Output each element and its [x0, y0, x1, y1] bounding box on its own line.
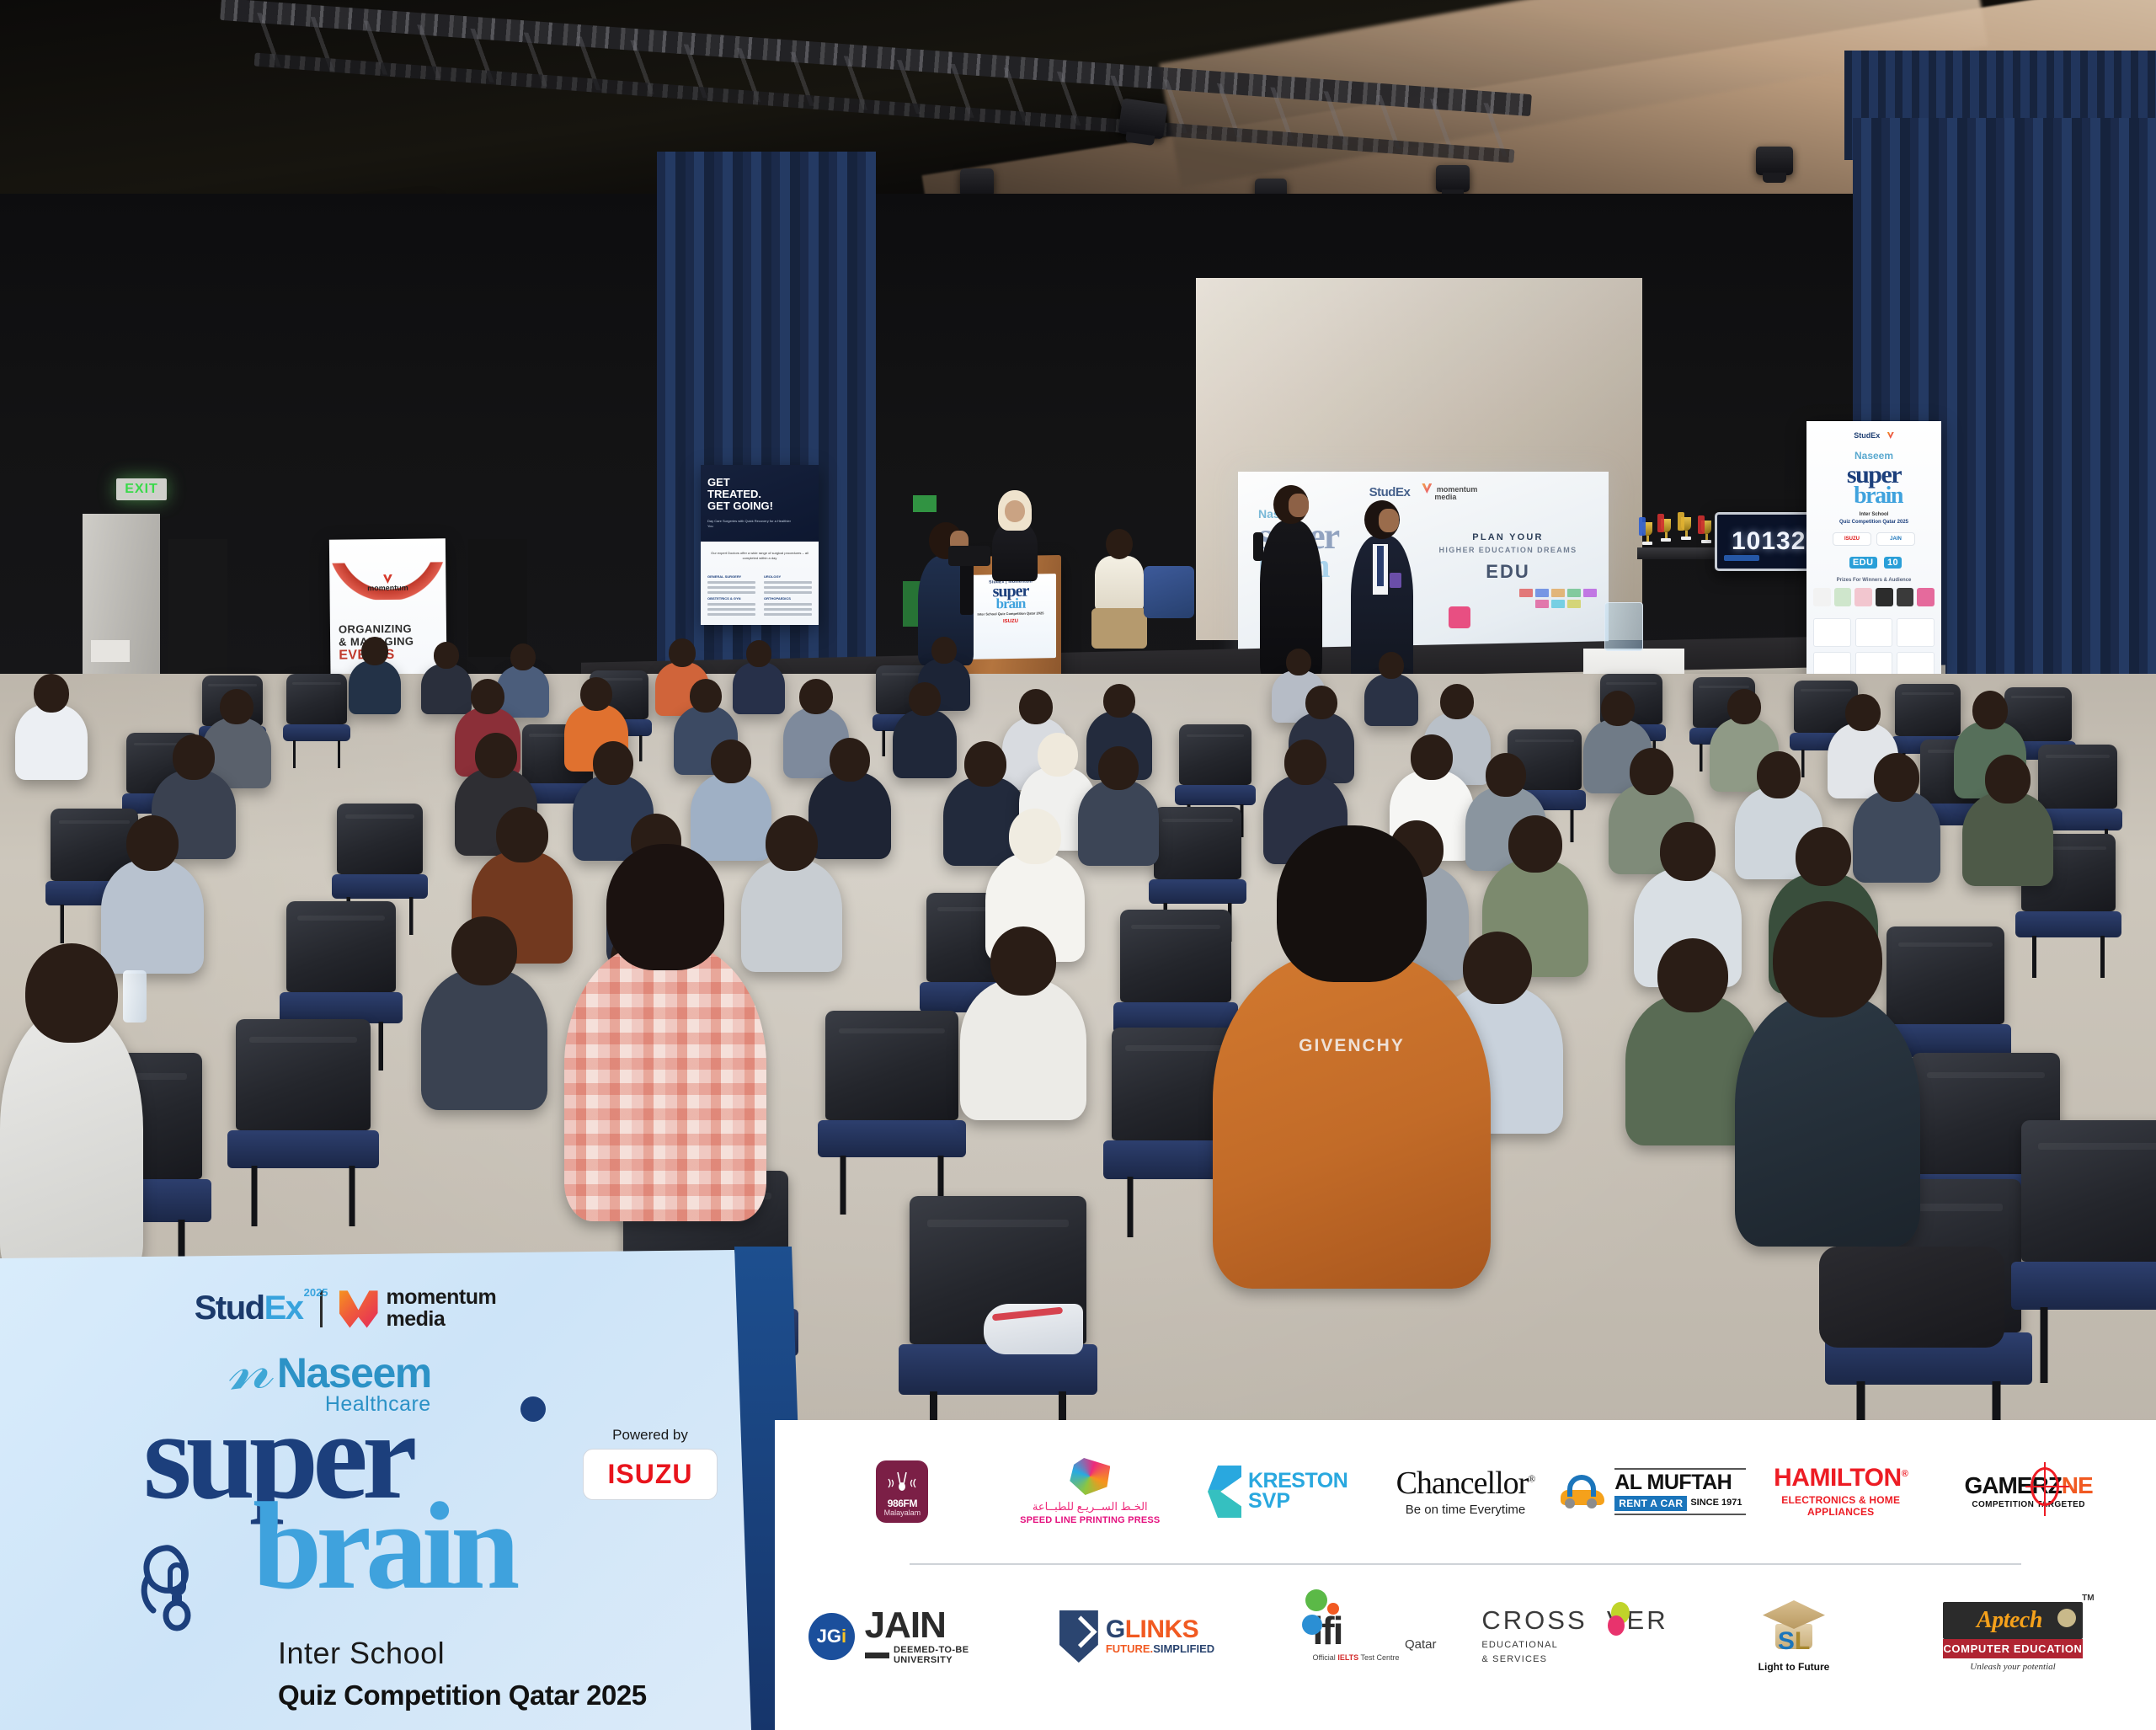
naseem-squiggle-icon: 𝓃 [227, 1353, 275, 1388]
banner-line1: GET [707, 476, 730, 489]
banner-quiz-line: Quiz Competition Qatar 2025 [1806, 520, 1941, 525]
audience-member [741, 859, 842, 972]
banner-line2: TREATED. [707, 488, 761, 500]
momentum-line2: media [387, 1309, 497, 1331]
banner-edu: EDU [1849, 557, 1877, 569]
sponsor-gamerzone-sub: COMPETITION TARGETED [1964, 1500, 2092, 1509]
audience-member [808, 772, 891, 859]
guest-legs [1091, 608, 1147, 649]
poster-canvas: EXIT StudStudExEx momentum media Naseem [0, 0, 2156, 1730]
head [799, 679, 833, 714]
audience-member [691, 773, 771, 861]
trophy [1681, 517, 1691, 546]
banner-momentum-label: momentum [367, 584, 408, 593]
banner-columns: GENERAL SURGERYOBSTETRICS & GYN UROLOGYO… [707, 574, 812, 618]
momentum-mark-icon [1422, 483, 1432, 494]
momentum-mark-icon [383, 574, 392, 584]
audience-member [893, 709, 957, 778]
head [434, 642, 459, 669]
sponsor-glinks: GLINKS FUTURE.SIMPLIFIED [1027, 1565, 1246, 1708]
guest-head [1106, 529, 1133, 559]
side-door [168, 539, 227, 681]
overlay-header-logos: StudEx2025 momentum media [0, 1287, 792, 1330]
head [1284, 740, 1326, 785]
student-tie [1377, 546, 1384, 586]
podium-brain: brain [969, 597, 1053, 611]
head [1845, 694, 1881, 731]
banner-studex-logo: StudEx [1806, 431, 1941, 440]
glinks-shield-icon [1059, 1610, 1098, 1663]
banner-momentum-logo: momentum [329, 574, 446, 592]
sponsor-hamilton: HAMILTON® ELECTRONICS & HOME APPLIANCES [1747, 1420, 1935, 1563]
chair [1154, 807, 1241, 879]
momentum-media-text: momentum media [387, 1287, 497, 1330]
sponsor-almuftah-extra: SINCE 1971 [1687, 1496, 1745, 1511]
sponsor-sl-text: SL [1758, 1627, 1830, 1656]
head [1286, 649, 1311, 675]
chair [2021, 1120, 2156, 1262]
audience-member-foreground [564, 943, 766, 1221]
banner-line3: GET GOING! [707, 499, 773, 512]
chair [2038, 745, 2117, 809]
audience-member [349, 660, 401, 714]
chair [286, 901, 396, 992]
audience-member [1853, 790, 1940, 883]
sponsor-almuftah-sub: RENT A CAR [1614, 1496, 1687, 1511]
head [126, 815, 179, 871]
green-exit-marker [913, 495, 937, 512]
audience-member [1078, 780, 1159, 866]
podium-branding-sign: StudEx | momentum super brain Inter Scho… [965, 574, 1056, 659]
head [593, 741, 633, 785]
stage-light [1436, 165, 1470, 192]
sponsor-almuftah: AL MUFTAH RENT A CAR SINCE 1971 [1559, 1420, 1747, 1563]
sponsor-ifi: ifi Qatar Official IELTS Test Centre [1246, 1565, 1465, 1708]
head [1411, 734, 1453, 780]
head [25, 943, 118, 1043]
speedline-mark-icon [1070, 1458, 1110, 1495]
sponsor-986fm-text: 986FM [888, 1498, 917, 1509]
kreston-chevron-icon [1208, 1466, 1241, 1518]
head [1009, 809, 1061, 864]
head [1379, 652, 1404, 679]
head [964, 741, 1006, 787]
sponsor-glinks-simplified: SIMPLIFIED [1153, 1642, 1214, 1655]
sponsor-crossover-sub: EDUCATIONAL& SERVICES [1481, 1638, 1668, 1666]
microphone [1253, 532, 1263, 561]
sponsor-kreston-text: KRESTON [1248, 1471, 1347, 1492]
water-bottle [123, 970, 147, 1023]
audience-member [960, 979, 1086, 1120]
audience-member [101, 859, 204, 974]
powered-by-block: Powered by ISUZU [583, 1427, 718, 1500]
head [746, 640, 771, 667]
banner-date: 10 [1884, 557, 1902, 569]
head [220, 689, 253, 724]
country-flag-grid [1518, 589, 1598, 608]
head [830, 738, 870, 782]
banner-edu-drive: EDU 10 [1806, 554, 1941, 568]
sponsor-gamerzone: GAMERZNE COMPETITION TARGETED [1935, 1420, 2122, 1563]
presenter-at-podium [992, 522, 1038, 581]
sponsor-aptech-tm: TM [2082, 1594, 2094, 1603]
head [34, 674, 69, 713]
banner-sponsor-boxes: ISUZU JAIN [1813, 532, 1935, 546]
powered-by-label: Powered by [583, 1427, 718, 1444]
banner-isuzu: ISUZU [1833, 532, 1871, 546]
head [909, 682, 941, 716]
isuzu-wordmark: ISUZU [584, 1459, 717, 1490]
banner-inter-school: Inter School [1806, 512, 1941, 517]
sponsor-glinks-g: G [1106, 1615, 1125, 1643]
head [1657, 938, 1728, 1012]
head [1508, 815, 1562, 873]
head [471, 679, 504, 714]
projection-headline: PLAN YOUR [1417, 532, 1598, 542]
exit-sign: EXIT [116, 478, 167, 500]
sponsor-ifi-text: ifi [1312, 1611, 1399, 1650]
student-face [1379, 509, 1399, 532]
inter-school-label: Inter School [278, 1636, 445, 1671]
sponsor-ifi-sub: Official IELTS Test Centre [1312, 1653, 1399, 1662]
chair [337, 804, 423, 874]
banner-partner: JAIN [1876, 532, 1915, 546]
banner-column: UROLOGYORTHOPAEDICS [764, 574, 812, 618]
banner-subtext: Day Care Surgeries with Quick Recovery f… [707, 519, 793, 529]
water-jug [1604, 602, 1643, 651]
sponsor-panel: 986FM Malayalam الخـط الســريـع للطبــاع… [775, 1420, 2156, 1730]
head [1277, 825, 1427, 982]
banner-bodytext: Our expert Doctors offer a wide range of… [707, 551, 812, 562]
head [931, 637, 957, 664]
chair [1886, 926, 2004, 1024]
sponsor-almuftah-text: AL MUFTAH [1614, 1472, 1745, 1493]
projection-momentum-logo: momentum media [1422, 483, 1477, 502]
sponsor-chancellor-text: Chancellor® [1396, 1467, 1535, 1499]
door-sign [91, 640, 130, 662]
head [1660, 822, 1716, 881]
sponsor-row-2: JGi JAIN DEEMED-TO-BE UNIVERSITY GLINKS … [775, 1565, 2156, 1708]
audience-member [421, 664, 472, 714]
head [1019, 689, 1053, 724]
trophy [1642, 522, 1652, 546]
head [580, 677, 612, 711]
stage-light [1756, 147, 1793, 175]
studex-ex: Ex [264, 1289, 303, 1327]
audience-member-foreground: GIVENCHY [1213, 952, 1491, 1289]
sponsor-crossover: CROSS VER EDUCATIONAL& SERVICES [1465, 1565, 1684, 1708]
jgi-badge-icon: JGi [808, 1613, 855, 1660]
isuzu-logo-box: ISUZU [583, 1449, 718, 1500]
head [1630, 748, 1673, 795]
banner-prizes-label: Prizes For Winners & Audience [1806, 578, 1941, 583]
banner-line1: ORGANIZING [339, 622, 412, 636]
presenter-face [1005, 500, 1025, 522]
head [1757, 751, 1801, 798]
trophy [1701, 521, 1711, 546]
scoreboard-progress-bar [1724, 555, 1759, 561]
stage-chair [1144, 566, 1194, 618]
quiz-competition-label: Quiz Competition Qatar 2025 [278, 1679, 647, 1711]
stethoscope-brain-icon [133, 1531, 234, 1632]
momentum-line2: media [1422, 493, 1456, 501]
chair [1179, 724, 1251, 785]
sponsor-speedline-text: SPEED LINE PRINTING PRESS [1020, 1515, 1160, 1525]
chair [1120, 910, 1231, 1002]
audience-member [421, 969, 547, 1110]
sponsor-986fm-sub: Malayalam [884, 1508, 921, 1517]
stage-light [1118, 98, 1167, 139]
sponsor-hamilton-text: HAMILTON® [1747, 1466, 1935, 1491]
chair [236, 1019, 371, 1130]
head [1601, 691, 1635, 726]
sponsor-986fm: 986FM Malayalam [808, 1420, 996, 1563]
head [1305, 686, 1337, 719]
sponsor-chancellor: Chancellor® Be on time Everytime [1372, 1420, 1560, 1563]
super-dot-icon [520, 1396, 546, 1422]
head [1098, 746, 1139, 790]
rollup-banner-superbrain: StudEx Naseem super brain Inter School Q… [1806, 421, 1941, 674]
sponsor-speedline-arabic: الخـط الســريـع للطبــاعة [1020, 1500, 1160, 1514]
sponsor-speedline: الخـط الســريـع للطبــاعة SPEED LINE PRI… [996, 1420, 1184, 1563]
audience-member [15, 704, 88, 780]
head [1985, 755, 2031, 804]
head [606, 844, 724, 970]
banner-sponsor-row [1813, 618, 1935, 647]
sponsor-jain-sub: DEEMED-TO-BE UNIVERSITY [894, 1645, 1027, 1665]
projection-partner-logo [1449, 606, 1470, 628]
seated-guest [1095, 556, 1144, 611]
head [711, 740, 751, 783]
trophy [1661, 519, 1671, 546]
sponsor-aptech-sub: COMPUTER EDUCATION [1943, 1639, 2082, 1658]
head [669, 638, 696, 667]
head [1440, 684, 1474, 719]
paw-icon [2057, 1609, 2076, 1627]
sponsor-glinks-future: FUTURE. [1106, 1642, 1153, 1655]
momentum-line1: momentum [387, 1287, 497, 1309]
momentum-mark-icon [1887, 432, 1894, 439]
banner-prize-row [1813, 588, 1935, 606]
sponsor-aptech-text: Aptech [1977, 1607, 2042, 1633]
head [1874, 753, 1919, 802]
host-face [1289, 494, 1309, 517]
sponsor-ifi-qatar: Qatar [1405, 1637, 1437, 1652]
sponsor-sl: SL Light to Future [1684, 1565, 1903, 1708]
backpack [1819, 1247, 2004, 1348]
id-badge [1390, 573, 1401, 588]
audience-member-foreground [1735, 994, 1920, 1247]
head [1103, 684, 1135, 718]
momentum-mark-icon [339, 1289, 378, 1328]
sponsor-chancellor-sub: Be on time Everytime [1396, 1503, 1535, 1517]
exit-sign-label: EXIT [125, 482, 158, 497]
chair [1895, 684, 1961, 736]
head [496, 807, 548, 862]
sponsor-sl-sub: Light to Future [1758, 1661, 1830, 1673]
audience-member [1364, 674, 1418, 726]
sponsor-aptech: TM Aptech COMPUTER EDUCATION Unleash you… [1903, 1565, 2122, 1708]
banner-naseem: Naseem [1806, 450, 1941, 462]
audience-member [733, 662, 785, 714]
audience-member-foreground [0, 1011, 143, 1280]
projection-studex-logo: StudStudExEx [1369, 485, 1411, 499]
banner-column: GENERAL SURGERYOBSTETRICS & GYN [707, 574, 755, 618]
head [1727, 689, 1761, 724]
audience-member [1962, 792, 2053, 886]
shirt-brand-text: GIVENCHY [1299, 1036, 1405, 1056]
oryx-icon [887, 1471, 917, 1494]
wall-niche [468, 539, 527, 657]
sponsor-aptech-tagline: Unleash your potential [1943, 1662, 2082, 1672]
studex-logo: StudEx2025 [195, 1289, 303, 1327]
studex-year: 2025 [304, 1286, 328, 1299]
head [990, 926, 1056, 996]
head [173, 734, 215, 780]
head [1796, 827, 1851, 886]
camera-body [948, 546, 990, 566]
head [361, 637, 388, 665]
podium-sub: Inter School Quiz Competition Qatar 2025 [969, 611, 1053, 617]
studex-stud: Stud [195, 1289, 264, 1327]
car-icon [1561, 1475, 1608, 1508]
banner-studex-label: StudEx [1854, 431, 1880, 440]
head [1486, 753, 1526, 797]
head [475, 733, 517, 778]
head [766, 815, 818, 871]
projection-subheadline: HIGHER EDUCATION DREAMS [1417, 546, 1598, 554]
head [1463, 932, 1532, 1004]
sponsor-jain-text: JAIN [865, 1608, 1027, 1643]
momentum-media-logo: momentum media [339, 1287, 497, 1330]
head [510, 643, 536, 670]
sponsor-glinks-links: LINKS [1125, 1615, 1199, 1643]
rollup-banner-naseem: GET TREATED. GET GOING! Day Care Surgeri… [701, 465, 819, 625]
sponsor-row-1: 986FM Malayalam الخـط الســريـع للطبــاع… [775, 1420, 2156, 1563]
sponsor-hamilton-sub: ELECTRONICS & HOME APPLIANCES [1747, 1494, 1935, 1518]
head [690, 679, 722, 713]
sponsor-jain: JGi JAIN DEEMED-TO-BE UNIVERSITY [808, 1565, 1027, 1708]
crosshair-icon [2031, 1467, 2059, 1506]
head [1972, 691, 2008, 729]
sponsor-crossover-text: CROSS VER [1481, 1607, 1668, 1633]
brand-overlay-panel: StudEx2025 momentum media 𝓃 Naseem Healt… [0, 1250, 792, 1730]
podium-isuzu: ISUZU [969, 619, 1053, 626]
head [451, 916, 517, 985]
audience-member [497, 665, 549, 718]
sponsor-kreston: KRESTON SVP [1184, 1420, 1372, 1563]
graduation-cap-icon [1763, 1600, 1825, 1629]
projection-edu-logo: EDU [1417, 561, 1598, 583]
chair [286, 674, 347, 724]
banner-brain: brain [1815, 487, 1941, 506]
head [1038, 733, 1078, 777]
banner-headline: ORGANIZING & MANAGING EVENTS [339, 622, 440, 663]
head [1773, 901, 1882, 1017]
chair [825, 1011, 958, 1120]
stage-light [960, 168, 994, 197]
banner-headline: GET TREATED. GET GOING! [707, 477, 785, 512]
sponsor-kreston-sub: SVP [1248, 1491, 1347, 1512]
